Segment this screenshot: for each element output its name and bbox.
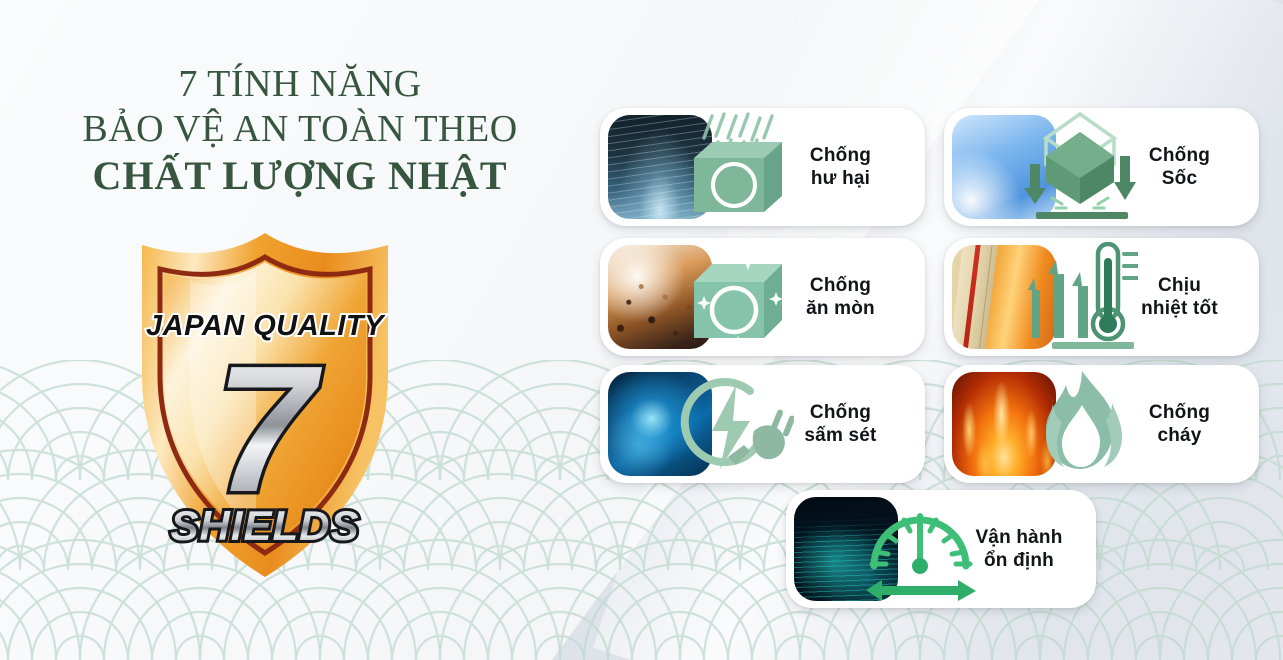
feature-card-chong-hu-hai[interactable]: Chống hư hại [600, 108, 925, 226]
feature-card-van-hanh-on-dinh[interactable]: Vận hành ổn định [786, 490, 1096, 608]
slide-canvas: 7 TÍNH NĂNG BẢO VỆ AN TOÀN THEO CHẤT LƯỢ… [0, 0, 1283, 660]
thumb-fire-photo [952, 372, 1056, 476]
feature-card-chong-sam-set[interactable]: Chống sấm sét [600, 365, 925, 483]
feature-label: Chống hư hại [712, 144, 925, 190]
feature-label: Chống cháy [1056, 401, 1259, 447]
title-line-1: 7 TÍNH NĂNG [0, 62, 600, 107]
thumb-rain-photo [608, 115, 712, 219]
thumb-heat-thermometer-photo [952, 245, 1056, 349]
thumb-soundwave-photo [794, 497, 898, 601]
badge-bottom-text: SHIELDS [170, 502, 359, 549]
feature-card-chiu-nhiet-tot[interactable]: Chịu nhiệt tốt [944, 238, 1259, 356]
feature-card-chong-an-mon[interactable]: Chống ăn mòn [600, 238, 925, 356]
page-title: 7 TÍNH NĂNG BẢO VỆ AN TOÀN THEO CHẤT LƯỢ… [0, 62, 600, 199]
feature-label: Chịu nhiệt tốt [1056, 274, 1259, 320]
feature-label: Vận hành ổn định [898, 526, 1096, 572]
badge-number: 7 [215, 329, 323, 530]
title-line-3: CHẤT LƯỢNG NHẬT [0, 152, 600, 199]
feature-label: Chống sấm sét [712, 401, 925, 447]
feature-card-chong-chay[interactable]: Chống cháy [944, 365, 1259, 483]
feature-card-chong-soc[interactable]: Chống Sốc [944, 108, 1259, 226]
feature-label: Chống Sốc [1056, 144, 1259, 190]
japan-quality-shield-badge: JAPAN QUALITY 7 SHIELDS [130, 225, 400, 585]
feature-label: Chống ăn mòn [712, 274, 925, 320]
thumb-rust-photo [608, 245, 712, 349]
thumb-ice-photo [952, 115, 1056, 219]
thumb-lightning-photo [608, 372, 712, 476]
title-line-2: BẢO VỆ AN TOÀN THEO [0, 107, 600, 152]
